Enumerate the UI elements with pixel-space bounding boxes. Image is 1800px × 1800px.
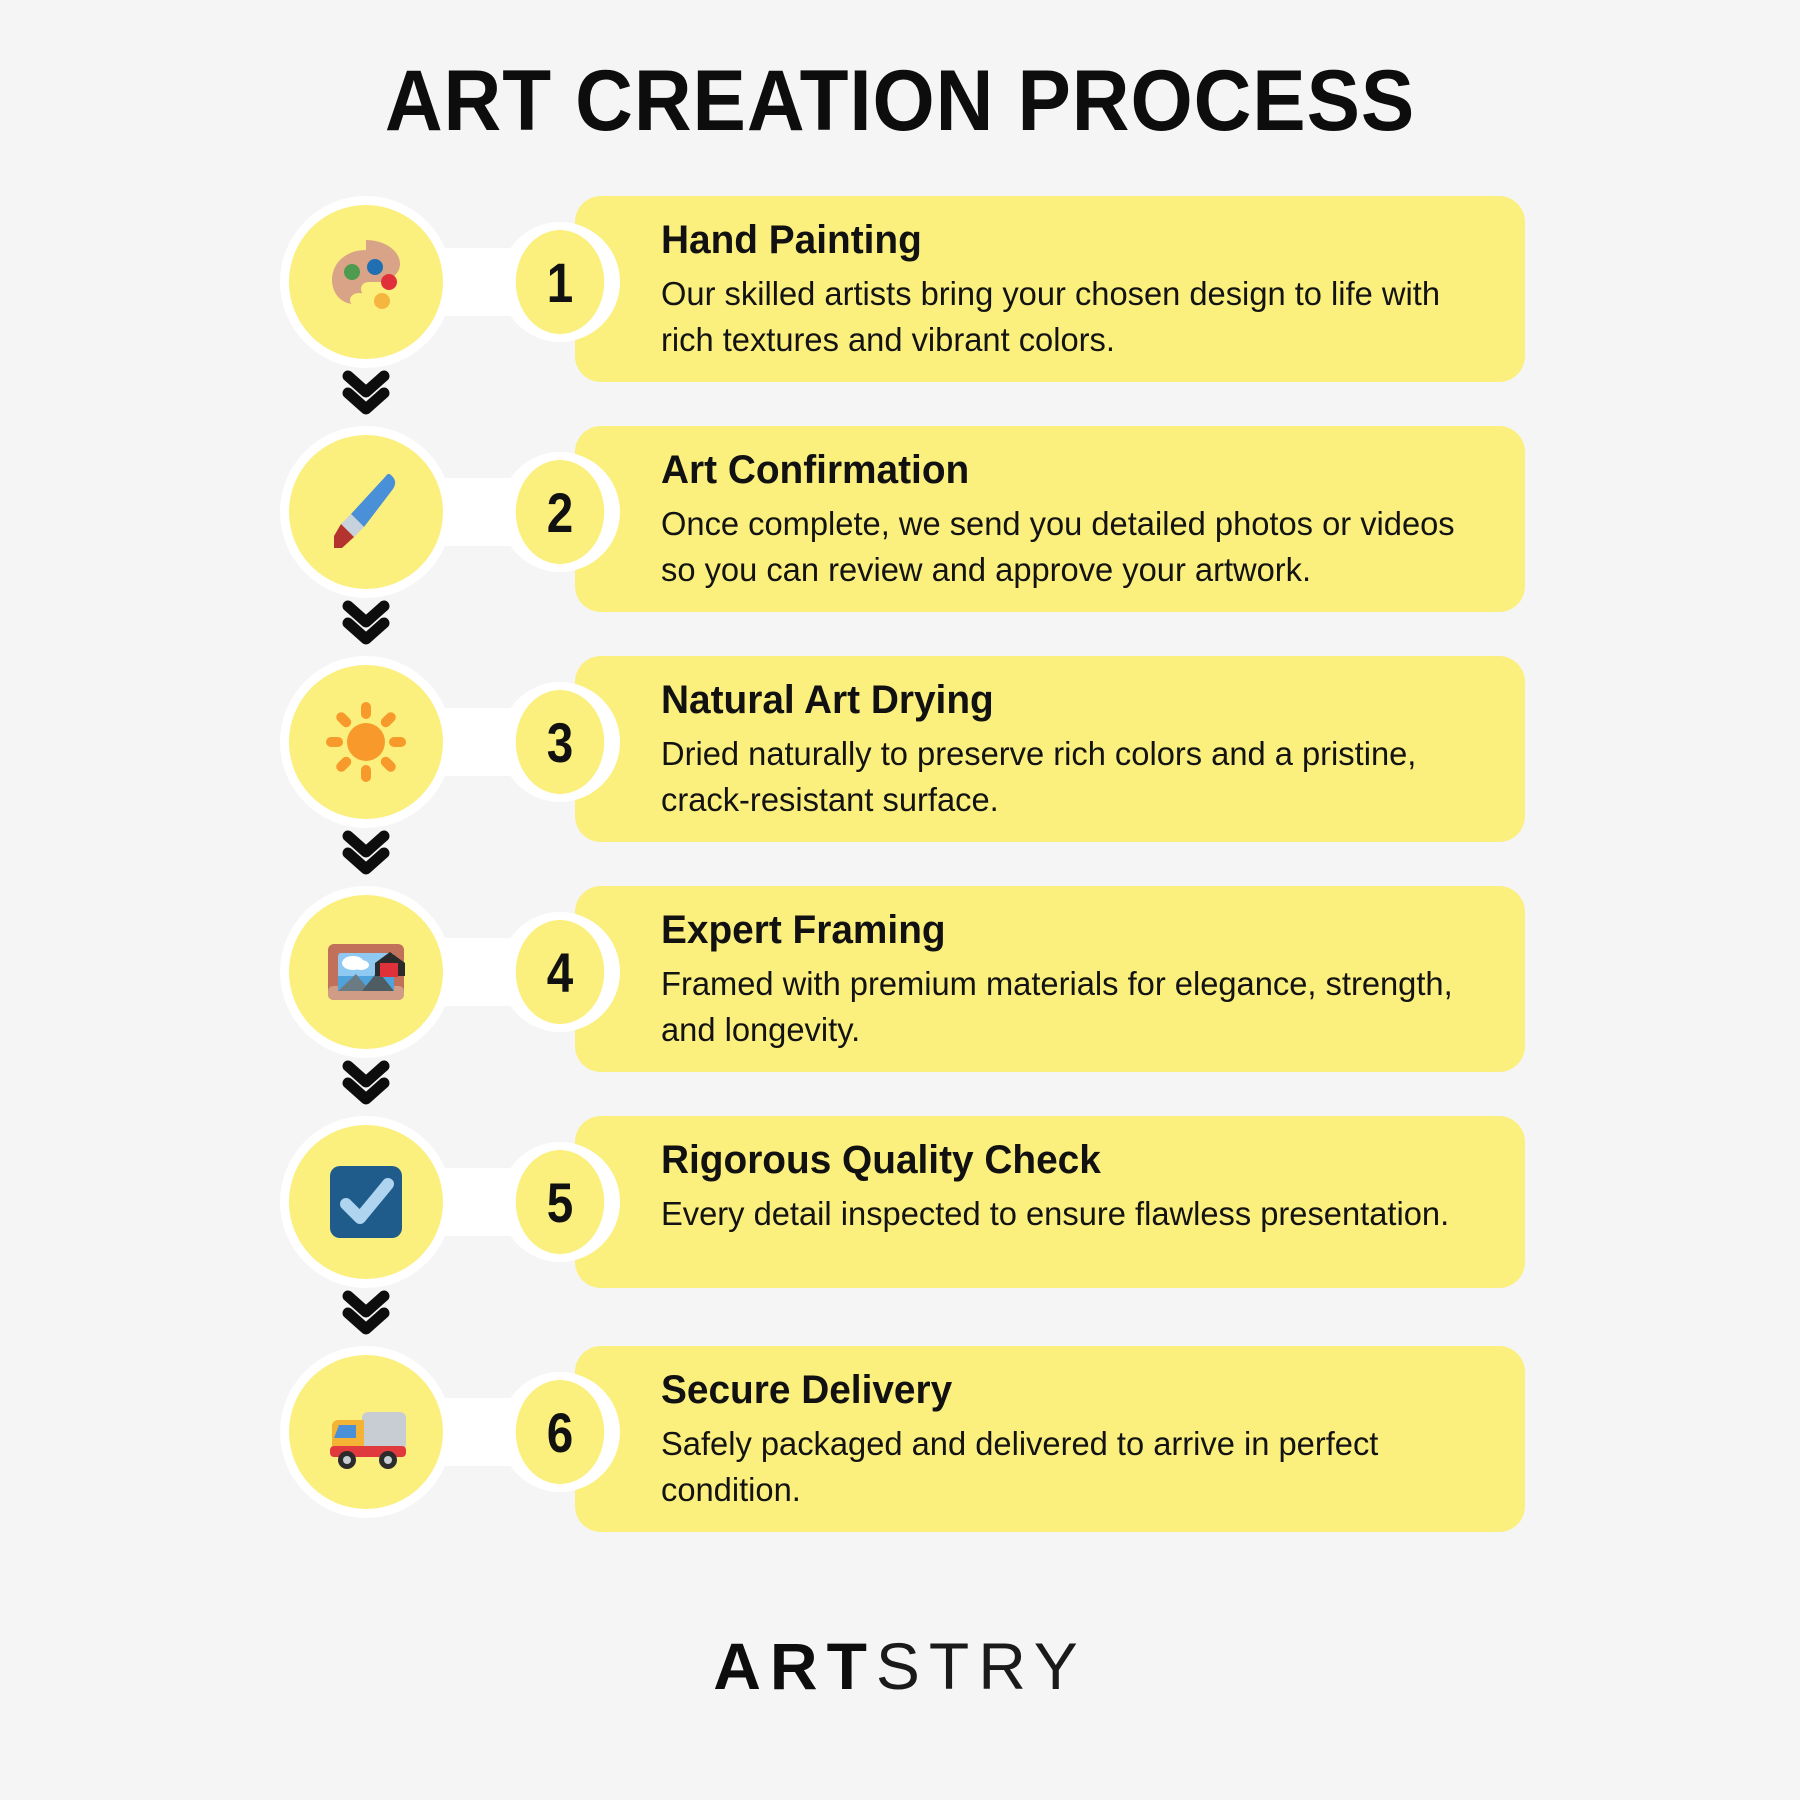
step-title: Expert Framing	[661, 908, 1466, 953]
step-card: Natural Art Drying Dried naturally to pr…	[575, 656, 1525, 842]
step-icon-disc	[289, 1355, 443, 1509]
step-number-badge: 3	[500, 682, 620, 802]
sun-icon	[318, 694, 414, 790]
step-icon-disc	[289, 1125, 443, 1279]
step-icon-bubble	[280, 656, 452, 828]
step-description: Dried naturally to preserve rich colors …	[661, 731, 1483, 822]
check-box-icon	[318, 1154, 414, 1250]
double-chevron-down-icon	[338, 594, 394, 650]
step-title: Natural Art Drying	[661, 678, 1466, 723]
process-step: 6 Secure Delivery Safely packaged and de…	[0, 1346, 1800, 1528]
infographic-poster: ART CREATION PROCESS 1	[0, 0, 1800, 1800]
process-step: 4 Expert Framing Framed with premium mat…	[0, 886, 1800, 1068]
step-number: 1	[516, 230, 604, 334]
double-chevron-down-icon	[338, 1284, 394, 1340]
step-description: Every detail inspected to ensure flawles…	[661, 1191, 1483, 1237]
step-icon-disc	[289, 665, 443, 819]
step-icon-bubble	[280, 426, 452, 598]
double-chevron-down-icon	[338, 364, 394, 420]
process-steps-list: 1 Hand Painting Our skilled artists brin…	[0, 196, 1800, 1528]
step-card: Expert Framing Framed with premium mater…	[575, 886, 1525, 1072]
step-title: Hand Painting	[661, 218, 1466, 263]
step-icon-bubble	[280, 886, 452, 1058]
step-number: 4	[516, 920, 604, 1024]
step-icon-bubble	[280, 1116, 452, 1288]
step-title: Secure Delivery	[661, 1368, 1466, 1413]
step-icon-bubble	[280, 196, 452, 368]
step-number: 5	[516, 1150, 604, 1254]
logo-bold-part: ART	[713, 1629, 876, 1703]
step-description: Safely packaged and delivered to arrive …	[661, 1421, 1483, 1512]
page-title: ART CREATION PROCESS	[63, 52, 1737, 151]
step-icon-disc	[289, 895, 443, 1049]
step-icon-disc	[289, 435, 443, 589]
process-step: 5 Rigorous Quality Check Every detail in…	[0, 1116, 1800, 1298]
framed-picture-icon	[318, 924, 414, 1020]
step-number: 2	[516, 460, 604, 564]
process-step: 3 Natural Art Drying Dried naturally to …	[0, 656, 1800, 838]
step-card: Rigorous Quality Check Every detail insp…	[575, 1116, 1525, 1288]
palette-icon	[318, 234, 414, 330]
double-chevron-down-icon	[338, 1054, 394, 1110]
step-number-badge: 2	[500, 452, 620, 572]
step-icon-disc	[289, 205, 443, 359]
step-description: Framed with premium materials for elegan…	[661, 961, 1483, 1052]
step-icon-bubble	[280, 1346, 452, 1518]
step-number-badge: 4	[500, 912, 620, 1032]
paintbrush-icon	[318, 464, 414, 560]
step-number-badge: 6	[500, 1372, 620, 1492]
double-chevron-down-icon	[338, 824, 394, 880]
step-title: Art Confirmation	[661, 448, 1466, 493]
step-card: Secure Delivery Safely packaged and deli…	[575, 1346, 1525, 1532]
logo-light-part: STRY	[876, 1629, 1087, 1703]
process-step: 1 Hand Painting Our skilled artists brin…	[0, 196, 1800, 378]
step-number-badge: 1	[500, 222, 620, 342]
process-step: 2 Art Confirmation Once complete, we sen…	[0, 426, 1800, 608]
brand-logo: ARTSTRY	[0, 1628, 1800, 1704]
step-card: Art Confirmation Once complete, we send …	[575, 426, 1525, 612]
step-description: Once complete, we send you detailed phot…	[661, 501, 1483, 592]
step-number: 6	[516, 1380, 604, 1484]
step-title: Rigorous Quality Check	[661, 1138, 1466, 1183]
step-number-badge: 5	[500, 1142, 620, 1262]
delivery-truck-icon	[318, 1384, 414, 1480]
step-number: 3	[516, 690, 604, 794]
step-card: Hand Painting Our skilled artists bring …	[575, 196, 1525, 382]
step-description: Our skilled artists bring your chosen de…	[661, 271, 1483, 362]
